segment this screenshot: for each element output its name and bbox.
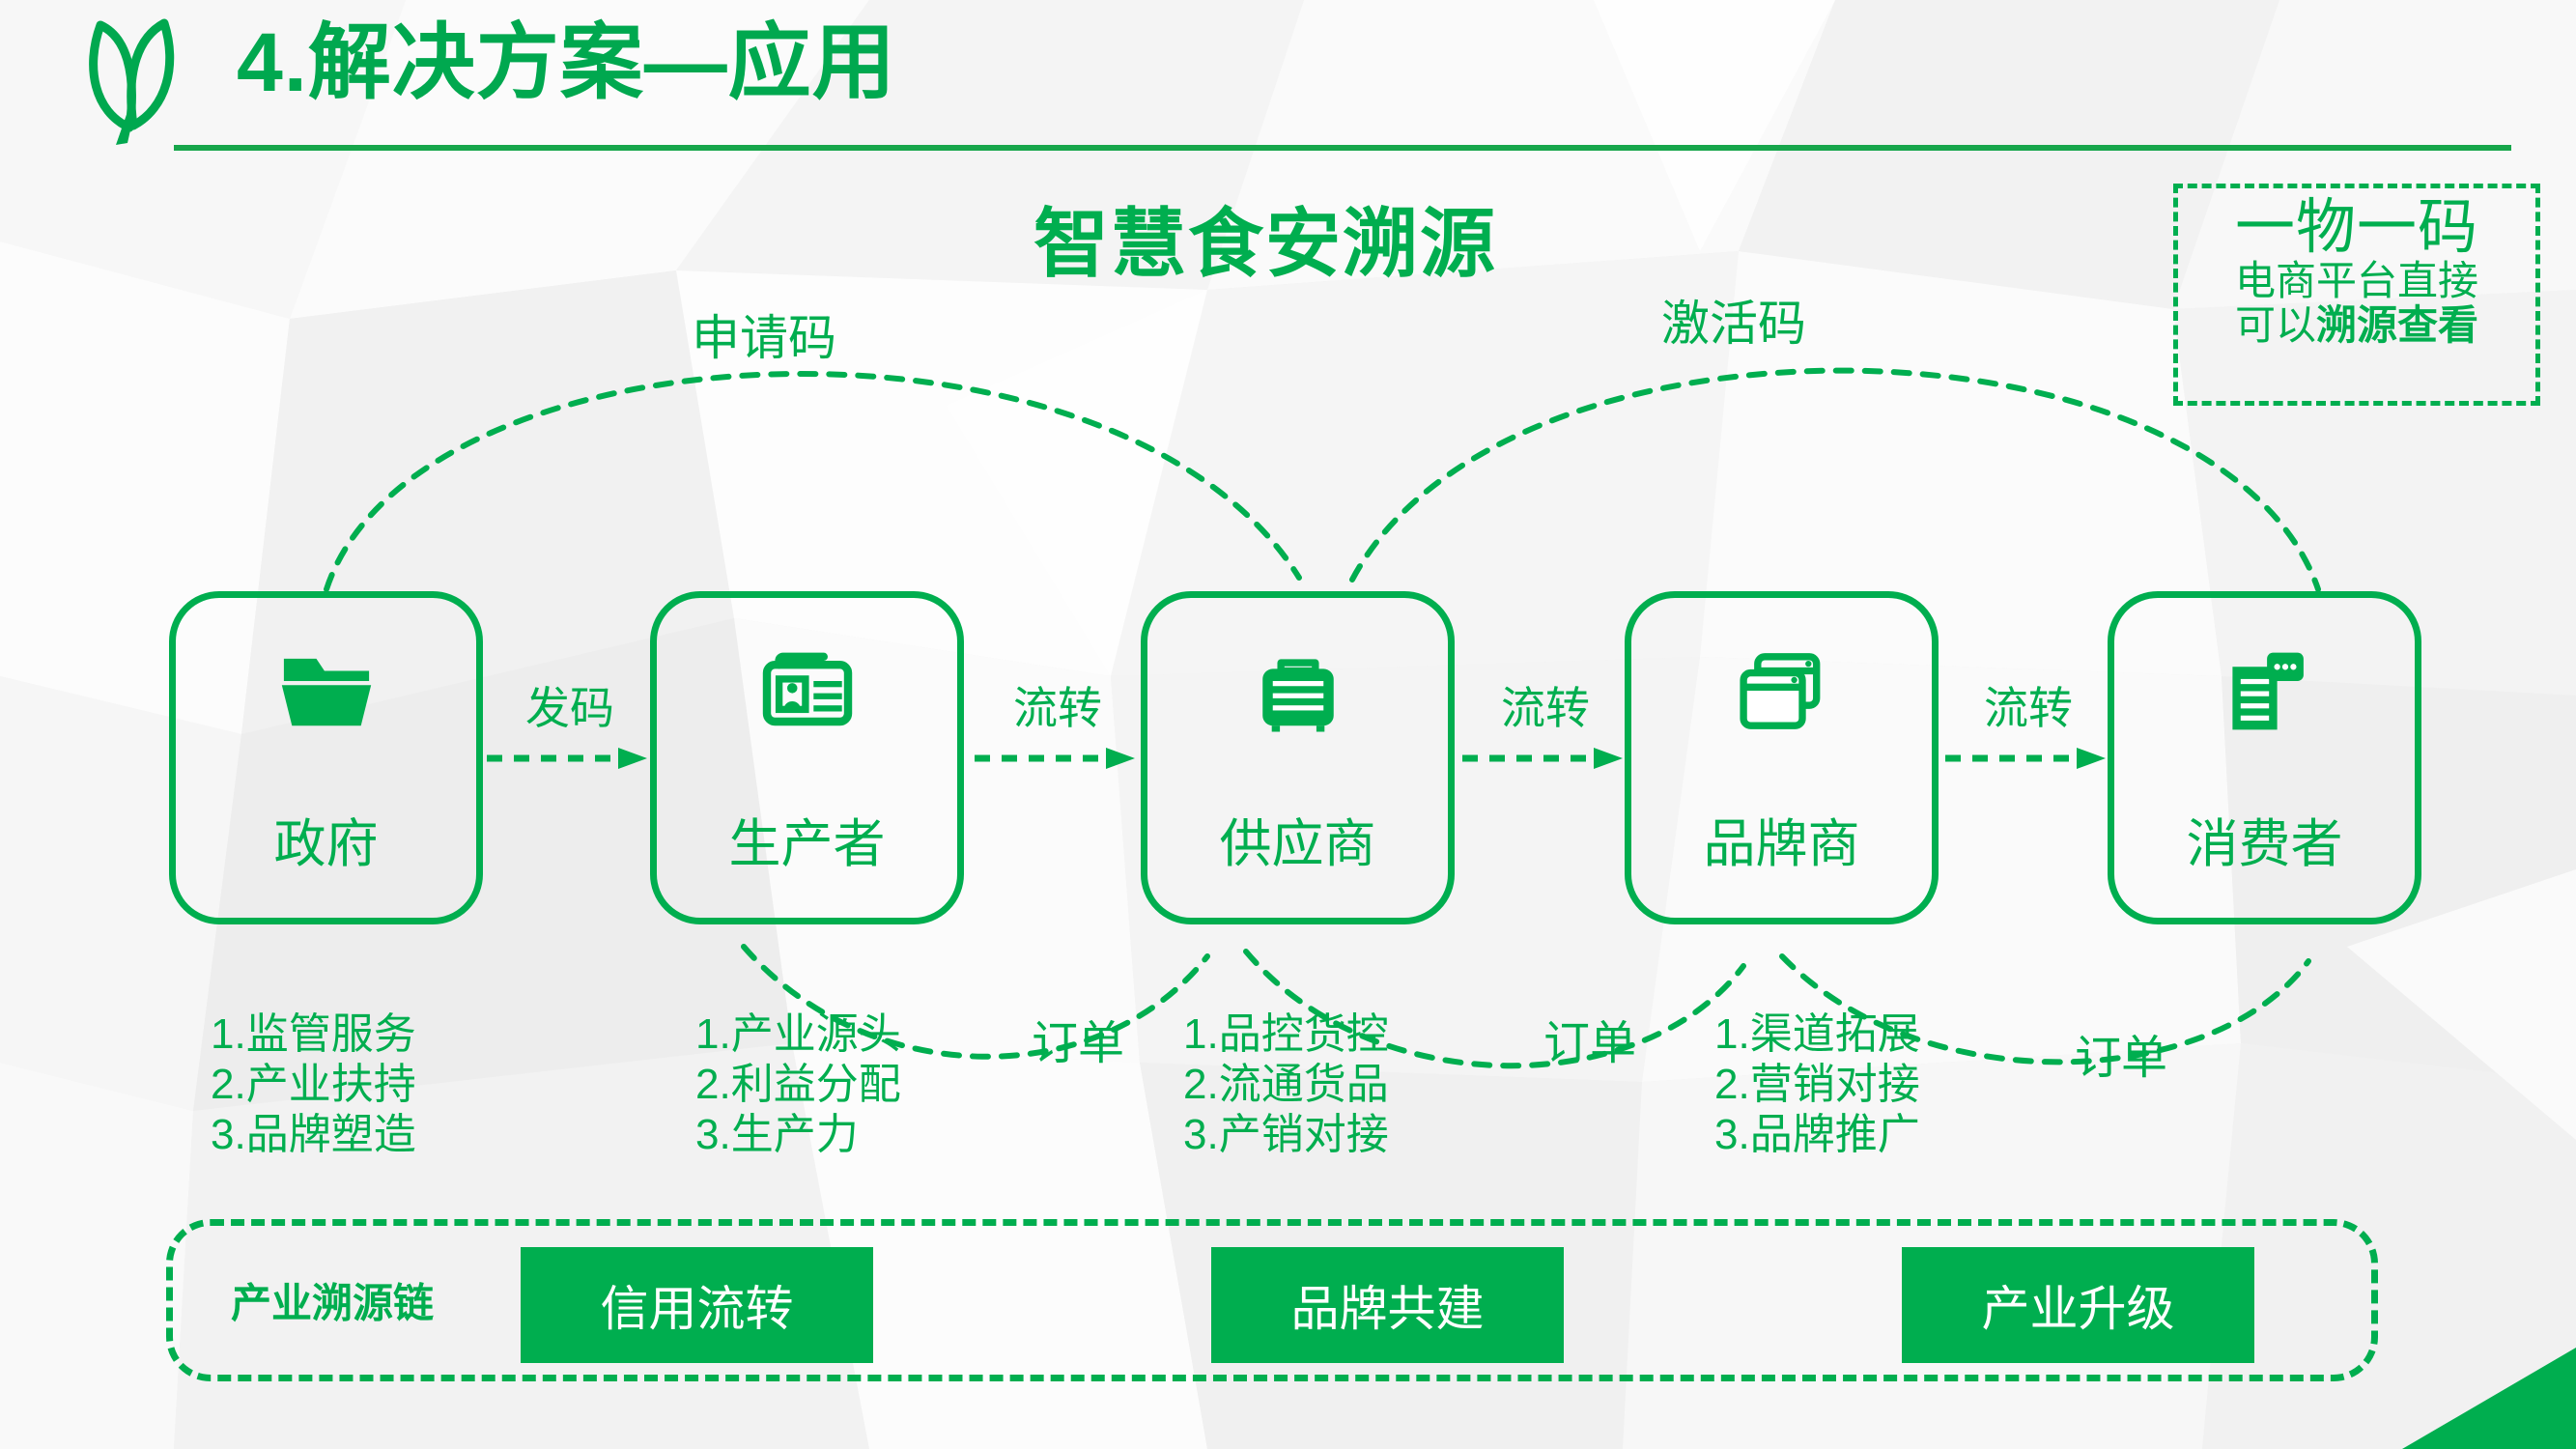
order-label-3: 订单	[2075, 1019, 2167, 1087]
callout-box: 一物一码 电商平台直接 可以溯源查看	[2173, 184, 2540, 406]
bullets-government: 1.监管服务 2.产业扶持 3.品牌塑造	[211, 1009, 416, 1160]
bullets-supplier: 1.品控货控 2.流通货品 3.产销对接	[1183, 1009, 1389, 1160]
node-brand[interactable]: 品牌商	[1625, 591, 1939, 924]
list-item: 2.利益分配	[695, 1060, 901, 1110]
order-label-1: 订单	[1032, 1005, 1124, 1072]
list-item: 2.流通货品	[1183, 1060, 1389, 1110]
arrow-right-icon	[483, 746, 657, 771]
node-label: 供应商	[1147, 801, 1448, 877]
callout-line2: 电商平台直接	[2178, 259, 2535, 303]
pill-industry-upgrade[interactable]: 产业升级	[1902, 1247, 2254, 1363]
slide-header: 4.解决方案—应用	[0, 0, 2576, 159]
callout-line3-prefix: 可以	[2235, 302, 2316, 348]
step-label: 流转	[1458, 686, 1632, 730]
list-item: 1.产业源头	[695, 1009, 901, 1060]
callout-headline: 一物一码	[2178, 196, 2535, 259]
bullets-brand: 1.渠道拓展 2.营销对接 3.品牌推广	[1714, 1009, 1920, 1160]
node-label: 政府	[176, 801, 476, 877]
arc-label-activate-code: 激活码	[1661, 285, 1806, 355]
bullets-producer: 1.产业源头 2.利益分配 3.生产力	[695, 1009, 901, 1160]
arc-label-apply-code: 申请码	[692, 299, 836, 369]
arrow-right-icon	[971, 746, 1145, 771]
main-title: 智慧食安溯源	[1033, 184, 1497, 292]
briefcase-icon	[1247, 640, 1348, 742]
document-chat-icon	[2214, 640, 2315, 742]
page-title: 4.解决方案—应用	[237, 17, 896, 109]
leaf-icon	[70, 12, 195, 147]
arrow-right-icon	[1941, 746, 2115, 771]
step-arrow-4: 流转	[1941, 686, 2115, 776]
order-label-2: 订单	[1543, 1005, 1636, 1072]
list-item: 3.品牌塑造	[211, 1110, 416, 1160]
step-arrow-3: 流转	[1458, 686, 1632, 776]
header-divider	[174, 145, 2511, 151]
step-arrow-1: 发码	[483, 686, 657, 776]
id-card-icon	[756, 640, 858, 742]
node-label: 消费者	[2114, 801, 2415, 877]
step-label: 流转	[971, 686, 1145, 730]
list-item: 1.渠道拓展	[1714, 1009, 1920, 1060]
node-label: 品牌商	[1631, 801, 1932, 877]
chain-label: 产业溯源链	[231, 1271, 434, 1330]
list-item: 1.品控货控	[1183, 1009, 1389, 1060]
list-item: 3.品牌推广	[1714, 1110, 1920, 1160]
pill-credit-flow[interactable]: 信用流转	[521, 1247, 873, 1363]
node-government[interactable]: 政府	[169, 591, 483, 924]
list-item: 2.营销对接	[1714, 1060, 1920, 1110]
callout-line3: 可以溯源查看	[2178, 303, 2535, 348]
list-item: 3.产销对接	[1183, 1110, 1389, 1160]
corner-accent-triangle	[2402, 1348, 2576, 1449]
node-producer[interactable]: 生产者	[650, 591, 964, 924]
pill-brand-cobuild[interactable]: 品牌共建	[1211, 1247, 1564, 1363]
node-consumer[interactable]: 消费者	[2108, 591, 2421, 924]
slide-canvas: 4.解决方案—应用 智慧食安溯源 一物一码 电商平台直接 可以溯源查看 申请码 …	[0, 0, 2576, 1449]
step-arrow-2: 流转	[971, 686, 1145, 776]
stacked-windows-icon	[1731, 640, 1832, 742]
step-label: 流转	[1941, 686, 2115, 730]
step-label: 发码	[483, 686, 657, 730]
folder-icon	[275, 640, 377, 742]
list-item: 1.监管服务	[211, 1009, 416, 1060]
list-item: 2.产业扶持	[211, 1060, 416, 1110]
arrow-right-icon	[1458, 746, 1632, 771]
node-supplier[interactable]: 供应商	[1141, 591, 1455, 924]
list-item: 3.生产力	[695, 1110, 901, 1160]
bottom-bar: 产业溯源链 信用流转 品牌共建 产业升级	[166, 1219, 2378, 1381]
node-label: 生产者	[657, 801, 957, 877]
callout-line3-bold: 溯源查看	[2316, 302, 2478, 348]
